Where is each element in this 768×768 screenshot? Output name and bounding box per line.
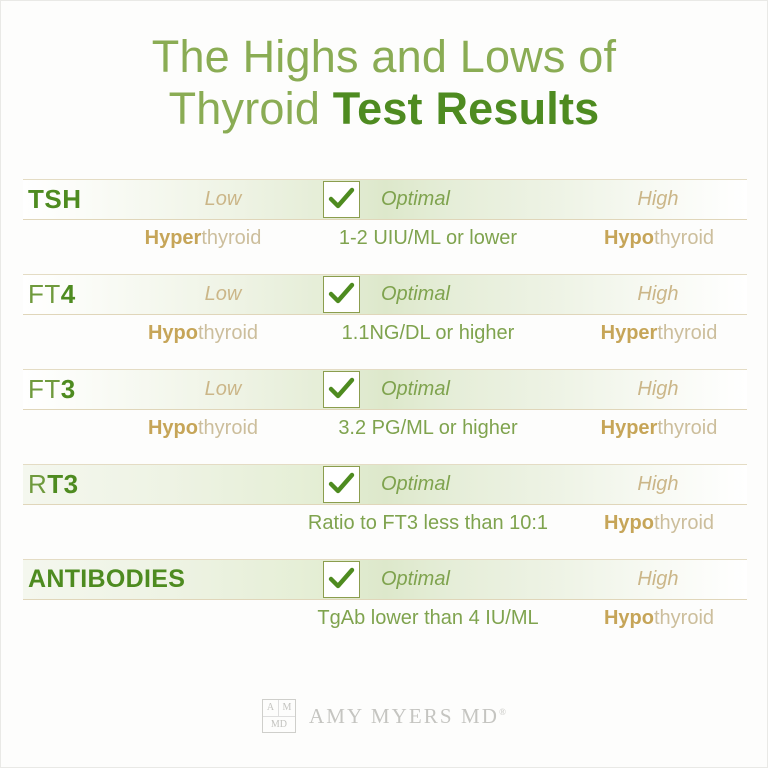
row-gradient-bar: FT3 Low Optimal High [23,370,747,409]
zone-label-high: High [583,180,733,219]
page-title: The Highs and Lows of Thyroid Test Resul… [1,1,767,135]
optimal-checkbox[interactable] [323,561,360,598]
logo-letter-m: M [279,700,295,717]
row-bar-content: RT3 Optimal High [23,465,747,504]
brand-name: AMY MYERS MD® [309,704,508,729]
brand-footer: A M MD AMY MYERS MD® [1,699,768,733]
table-row: FT3 Low Optimal High Hypothyroid 3.2 PG/… [23,369,747,446]
optimal-checkbox[interactable] [323,181,360,218]
zone-label-low: Low [143,180,303,219]
checkmark-icon [328,566,355,593]
checkmark-icon [328,186,355,213]
test-name-bold: 3 [61,374,76,404]
sublabel-left-rest: thyroid [198,417,258,439]
sublabel-left-rest: thyroid [198,322,258,344]
sublabel-right-rest: thyroid [654,227,714,249]
test-name-bold: T3 [47,469,78,499]
sublabel-center: 1.1NG/DL or higher [303,315,553,351]
test-rows-list: TSH Low Optimal High Hyperthyroid 1-2 UI… [23,179,747,654]
row-gradient-bar: TSH Low Optimal High [23,180,747,219]
logo-letters-md: MD [263,717,295,733]
checkmark-icon [328,281,355,308]
sublabel-left-bold: Hypo [148,322,198,344]
title-line-1: The Highs and Lows of [1,31,767,83]
test-name-light: FT [28,279,61,309]
row-sublabels: TgAb lower than 4 IU/ML Hypothyroid [23,600,747,636]
sublabel-left: Hypothyroid [93,315,313,351]
zone-label-high: High [583,370,733,409]
test-name-bold: TSH [28,184,82,214]
test-name-bold: 4 [61,279,76,309]
optimal-checkbox[interactable] [323,371,360,408]
title-line-2: Thyroid Test Results [1,83,767,135]
zone-label-low: Low [143,370,303,409]
test-name: TSH [28,180,82,219]
zone-label-optimal: Optimal [381,370,450,409]
sublabel-right-bold: Hypo [604,227,654,249]
sublabel-right-rest: thyroid [657,322,717,344]
row-gradient-bar: ANTIBODIES Optimal High [23,560,747,599]
row-bar-content: TSH Low Optimal High [23,180,747,219]
test-name-light: R [28,469,47,499]
sublabel-left-rest: thyroid [201,227,261,249]
sublabel-right-rest: thyroid [654,607,714,629]
table-row: FT4 Low Optimal High Hypothyroid 1.1NG/D… [23,274,747,351]
row-sublabels: Hypothyroid 3.2 PG/ML or higher Hyperthy… [23,410,747,446]
sublabel-right: Hypothyroid [571,220,747,256]
sublabel-right: Hypothyroid [571,600,747,636]
checkmark-icon [328,471,355,498]
sublabel-right-bold: Hypo [604,607,654,629]
sublabel-center: 3.2 PG/ML or higher [303,410,553,446]
brand-name-text: AMY MYERS MD [309,704,499,728]
infographic-page: The Highs and Lows of Thyroid Test Resul… [0,0,768,768]
sublabel-right: Hypothyroid [571,505,747,541]
zone-label-high: High [583,275,733,314]
table-row: TSH Low Optimal High Hyperthyroid 1-2 UI… [23,179,747,256]
row-bar-content: ANTIBODIES Optimal High [23,560,747,599]
sublabel-center: 1-2 UIU/ML or lower [303,220,553,256]
sublabel-left [93,600,313,636]
sublabel-left: Hypothyroid [93,410,313,446]
sublabel-center: TgAb lower than 4 IU/ML [303,600,553,636]
row-gradient-bar: RT3 Optimal High [23,465,747,504]
zone-label-optimal: Optimal [381,560,450,599]
sublabel-left-bold: Hypo [148,417,198,439]
zone-label-high: High [583,465,733,504]
table-row: ANTIBODIES Optimal High TgAb lower than … [23,559,747,636]
sublabel-right-bold: Hyper [601,417,658,439]
title-line-2-light-text: Thyroid [169,83,333,134]
optimal-checkbox[interactable] [323,276,360,313]
row-gradient-bar: FT4 Low Optimal High [23,275,747,314]
zone-label-low: Low [143,275,303,314]
registered-mark: ® [499,707,508,717]
logo-letter-a: A [263,700,279,717]
amy-myers-md-logo-icon: A M MD [262,699,296,733]
zone-label-low [143,560,303,599]
zone-label-low [143,465,303,504]
optimal-checkbox[interactable] [323,466,360,503]
test-name: FT3 [28,370,76,409]
sublabel-right: Hyperthyroid [571,315,747,351]
sublabel-left-bold: Hyper [145,227,202,249]
sublabel-right: Hyperthyroid [571,410,747,446]
sublabel-right-bold: Hyper [601,322,658,344]
row-bar-content: FT4 Low Optimal High [23,275,747,314]
zone-label-optimal: Optimal [381,180,450,219]
checkmark-icon [328,376,355,403]
title-line-1-text: The Highs and Lows of [152,31,616,82]
row-sublabels: Hypothyroid 1.1NG/DL or higher Hyperthyr… [23,315,747,351]
test-name: RT3 [28,465,79,504]
title-line-2-bold-text: Test Results [333,83,600,134]
zone-label-optimal: Optimal [381,465,450,504]
table-row: RT3 Optimal High Ratio to FT3 less than … [23,464,747,541]
row-sublabels: Hyperthyroid 1-2 UIU/ML or lower Hypothy… [23,220,747,256]
sublabel-right-rest: thyroid [657,417,717,439]
row-sublabels: Ratio to FT3 less than 10:1 Hypothyroid [23,505,747,541]
zone-label-high: High [583,560,733,599]
sublabel-right-rest: thyroid [654,512,714,534]
sublabel-right-bold: Hypo [604,512,654,534]
zone-label-optimal: Optimal [381,275,450,314]
row-bar-content: FT3 Low Optimal High [23,370,747,409]
sublabel-left [93,505,313,541]
test-name: FT4 [28,275,76,314]
test-name-light: FT [28,374,61,404]
sublabel-center: Ratio to FT3 less than 10:1 [303,505,553,541]
sublabel-left: Hyperthyroid [93,220,313,256]
